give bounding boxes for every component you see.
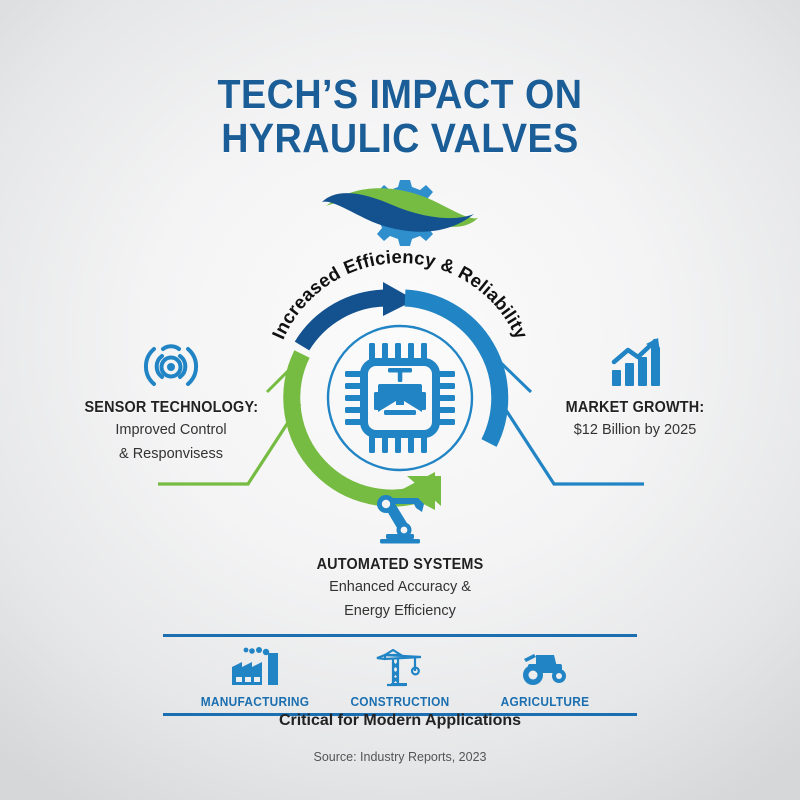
crane-icon xyxy=(330,647,470,687)
industry-label: CONSTRUCTION xyxy=(334,695,467,709)
industry-manufacturing[interactable]: MANUFACTURING xyxy=(185,647,325,709)
industry-construction[interactable]: CONSTRUCTION xyxy=(330,647,470,709)
industries-strip: MANUFACTURING xyxy=(163,634,637,716)
footer-tagline: Critical for Modern Applications xyxy=(0,712,800,730)
node-sensor-technology: SENSOR TECHNOLOGY: Improved Control & Re… xyxy=(78,335,264,464)
node-subtitle-line1: Improved Control xyxy=(78,421,264,441)
footer-source: Source: Industry Reports, 2023 xyxy=(0,750,800,764)
node-subtitle-line1: $12 Billion by 2025 xyxy=(540,421,730,441)
node-market-growth: MARKET GROWTH: $12 Billion by 2025 xyxy=(540,335,730,441)
infographic-canvas: TECH’S IMPACT ON HYRAULIC VALVES Increas… xyxy=(0,0,800,800)
node-subtitle-line2: & Responvisess xyxy=(78,445,264,465)
factory-icon xyxy=(185,647,325,687)
sensor-signal-icon xyxy=(78,335,264,387)
node-title: AUTOMATED SYSTEMS xyxy=(304,556,496,574)
tractor-icon xyxy=(475,647,615,687)
node-title: SENSOR TECHNOLOGY: xyxy=(85,399,258,417)
industry-label: AGRICULTURE xyxy=(479,695,612,709)
gear-swoosh-logo xyxy=(318,172,482,248)
title-line-2: HYRAULIC VALVES xyxy=(32,116,768,160)
central-cycle-diagram: Increased Efficiency & Reliability xyxy=(255,250,545,520)
title-line-1: TECH’S IMPACT ON xyxy=(32,72,768,116)
robot-arm-icon xyxy=(297,492,503,544)
microchip-valve-icon xyxy=(345,343,455,453)
industry-agriculture[interactable]: AGRICULTURE xyxy=(475,647,615,709)
node-subtitle-line2: Energy Efficiency xyxy=(297,602,503,622)
industry-label: MANUFACTURING xyxy=(189,695,322,709)
growth-chart-icon xyxy=(540,335,730,387)
node-automated-systems: AUTOMATED SYSTEMS Enhanced Accuracy & En… xyxy=(297,492,503,621)
node-subtitle-line1: Enhanced Accuracy & xyxy=(297,578,503,598)
node-title: MARKET GROWTH: xyxy=(547,399,724,417)
page-title: TECH’S IMPACT ON HYRAULIC VALVES xyxy=(0,72,800,161)
